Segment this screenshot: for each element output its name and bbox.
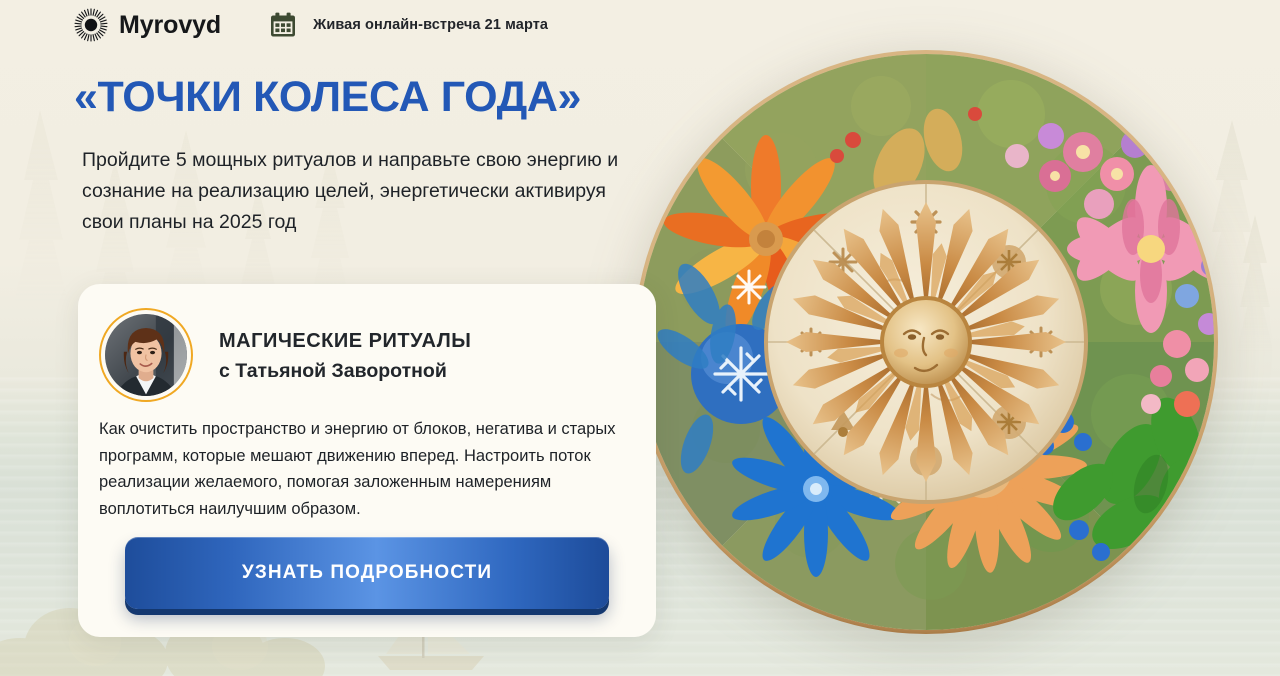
landing-page-hero: Myrovyd Живая онлайн-встреча 21 марта (0, 0, 1280, 676)
card-presenter-name: с Татьяной Заворотной (219, 357, 471, 386)
avatar (105, 314, 187, 396)
meeting-announcement: Живая онлайн-встреча 21 марта (269, 11, 548, 39)
sunburst-logo-icon (74, 8, 108, 42)
calendar-icon (269, 11, 297, 39)
brand-name: Myrovyd (119, 11, 221, 40)
card-description: Как очистить пространство и энергию от б… (99, 416, 643, 522)
card-kicker: МАГИЧЕСКИЕ РИТУАЛЫ (219, 327, 471, 355)
presenter-block: МАГИЧЕСКИЕ РИТУАЛЫ с Татьяной Заворотной (99, 308, 471, 402)
learn-more-button[interactable]: УЗНАТЬ ПОДРОБНОСТИ (125, 537, 609, 609)
page-title: «ТОЧКИ КОЛЕСА ГОДА» (74, 73, 581, 122)
meeting-date-label: Живая онлайн-встреча 21 марта (313, 17, 548, 33)
brand-logo[interactable]: Myrovyd (74, 8, 221, 42)
avatar-ring (99, 308, 193, 402)
wheel-of-the-year-illustration (631, 44, 1221, 640)
site-header: Myrovyd Живая онлайн-встреча 21 марта (74, 8, 548, 42)
hero-subtitle: Пройдите 5 мощных ритуалов и направьте с… (82, 145, 642, 238)
offer-card: МАГИЧЕСКИЕ РИТУАЛЫ с Татьяной Заворотной… (78, 284, 656, 637)
